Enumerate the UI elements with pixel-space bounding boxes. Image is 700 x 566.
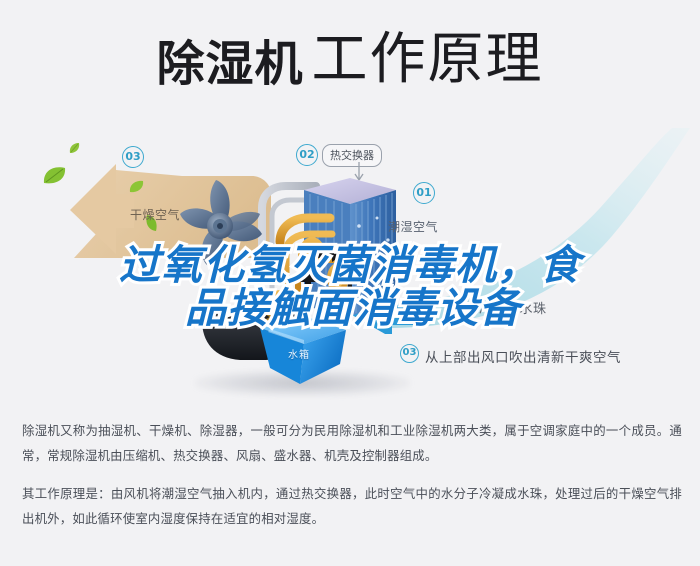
moist-air-label: 潮湿空气 [388,218,438,235]
leaf-icon [68,142,81,155]
page-title-part-b: 工作原理 [312,27,544,92]
callout-pointer-icon [354,162,372,192]
leaf-icon [128,180,144,194]
heat-exchanger-callout: 热交换器 [322,144,382,167]
note-outlet: 从上部出风口吹出清新干爽空气 [425,346,621,366]
leaf-icon [42,166,66,186]
badge-moist-air: 01 [413,182,435,204]
dry-air-label: 干燥空气 [130,206,180,223]
badge-dry-air: 03 [122,146,144,168]
overlay-title-line-1: 过氧化氢灭菌消毒机，食 [0,244,700,287]
page-title: 除湿机工作原理 [0,32,700,88]
badge-heat-exchanger: 02 [296,144,318,166]
overlay-title-line-2: 品接触面消毒设备 [0,287,700,330]
body-paragraph-2: 其工作原理是：由风机将潮湿空气抽入机内，通过热交换器，此时空气中的水分子冷凝成水… [22,481,682,532]
page-title-part-a: 除湿机 [156,36,303,92]
water-tank-label: 水箱 [288,346,310,361]
body-paragraph-1: 除湿机又称为抽湿机、干燥机、除湿器，一般可分为民用除湿机和工业除湿机两大类，属于… [22,418,682,469]
badge-outlet-note: 03 [400,344,419,363]
infographic-page: 除湿机工作原理 [0,0,700,566]
body-copy: 除湿机又称为抽湿机、干燥机、除湿器，一般可分为民用除湿机和工业除湿机两大类，属于… [22,418,682,532]
overlay-watermark-title: 过氧化氢灭菌消毒机，食 品接触面消毒设备 [0,244,700,329]
